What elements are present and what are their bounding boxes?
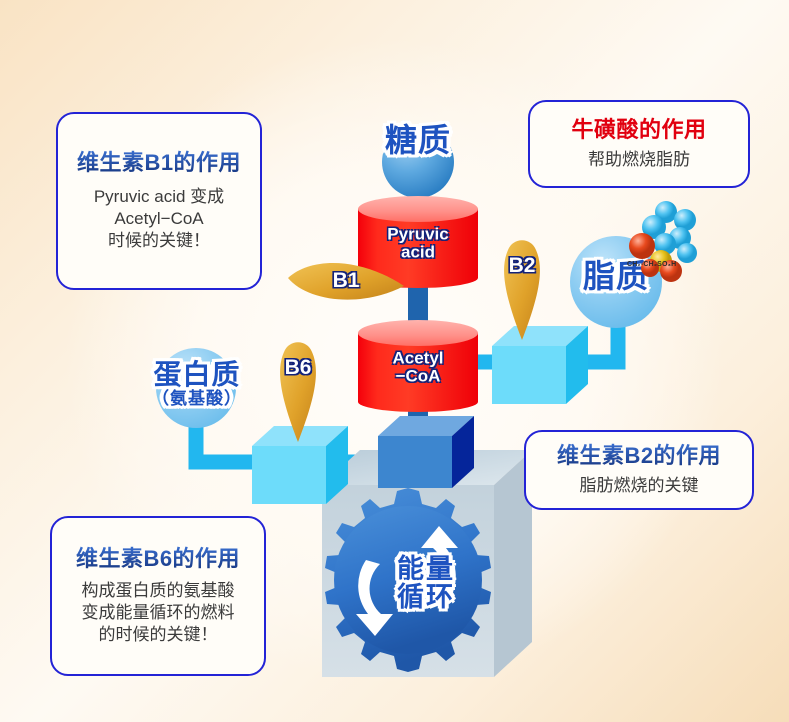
protein-label-main: 蛋白质 <box>128 360 266 389</box>
molecule-formula: CH₂-CH₂SO₃H <box>627 261 676 268</box>
energy-line-1: 能量 <box>361 555 491 583</box>
energy-line-2: 循环 <box>361 583 491 611</box>
callout-line: Acetyl−CoA <box>94 208 224 230</box>
vitamin-b2-marker: B2 <box>496 232 548 342</box>
vitamin-b1-callout[interactable]: 维生素B1的作用 Pyruvic acid 变成 Acetyl−CoA 时候的关… <box>56 112 262 290</box>
callout-title: 维生素B1的作用 <box>77 150 241 175</box>
acetyl-line-2: −CoA <box>358 367 478 385</box>
callout-line: 构成蛋白质的氨基酸 <box>82 580 235 602</box>
protein-label-sub: （氨基酸） <box>128 390 266 408</box>
callout-line: 时候的关键！ <box>94 230 224 252</box>
cylinder-top <box>358 320 478 346</box>
pyruvic-line-1: Pyruvic <box>358 226 478 244</box>
acetyl-coa-cylinder: Acetyl −CoA <box>358 320 478 412</box>
protein-label: 蛋白质 （氨基酸） <box>128 360 266 408</box>
vitamin-b1-label: B1 <box>286 269 406 293</box>
taurine-callout[interactable]: 牛磺酸的作用 帮助燃烧脂肪 <box>528 100 750 188</box>
glucose-label: 糖质 <box>368 124 468 158</box>
callout-line: 脂肪燃烧的关键 <box>580 475 699 497</box>
vitamin-b2-label: B2 <box>496 254 548 278</box>
vitamin-b6-label: B6 <box>272 356 324 380</box>
callout-title: 维生素B2的作用 <box>557 443 721 468</box>
vitamin-b1-marker: B1 <box>286 256 406 310</box>
cylinder-top <box>358 196 478 222</box>
acetyl-line-1: Acetyl <box>358 350 478 368</box>
callout-title: 维生素B6的作用 <box>76 546 240 571</box>
callout-line: 变成能量循环的燃料 <box>82 602 235 624</box>
taurine-molecule <box>624 198 704 282</box>
energy-cycle-label: 能量 循环 <box>361 555 491 612</box>
callout-line: 帮助燃烧脂肪 <box>588 149 690 171</box>
vitamin-b6-marker: B6 <box>272 334 324 444</box>
callout-title: 牛磺酸的作用 <box>571 117 706 142</box>
callout-line: Pyruvic acid 变成 <box>94 186 224 208</box>
vitamin-b6-callout[interactable]: 维生素B6的作用 构成蛋白质的氨基酸 变成能量循环的燃料 的时候的关键！ <box>50 516 266 676</box>
callout-line: 的时候的关键！ <box>82 624 235 646</box>
vitamin-b2-callout[interactable]: 维生素B2的作用 脂肪燃烧的关键 <box>524 430 754 510</box>
central-column-cube <box>378 414 474 494</box>
acetyl-coa-label: Acetyl −CoA <box>358 350 478 385</box>
